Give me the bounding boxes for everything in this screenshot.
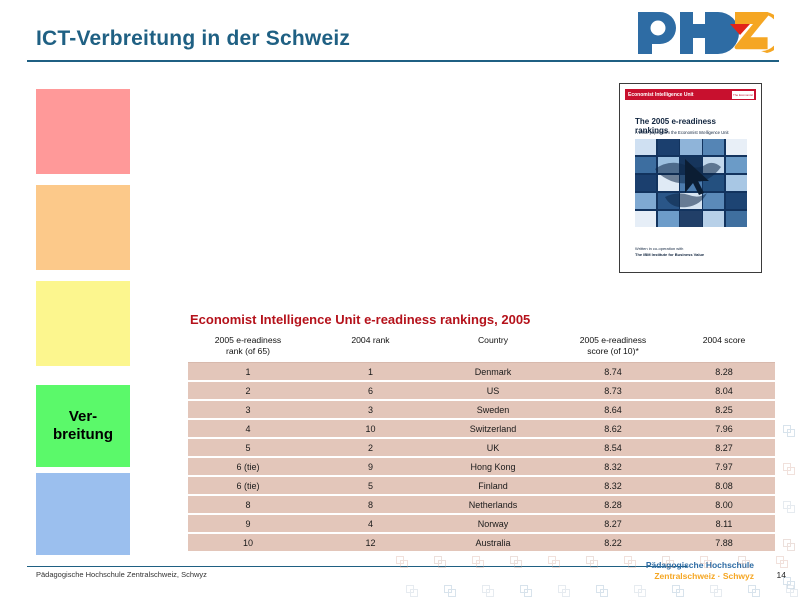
cell-country: Denmark <box>433 363 553 382</box>
phz-logo-svg <box>634 8 774 56</box>
cell-country: Sweden <box>433 400 553 419</box>
page-number: 14 <box>777 570 786 580</box>
table-row: 52UK8.548.27 <box>188 438 775 457</box>
sidebar-block-yellow[interactable] <box>36 281 130 366</box>
cell-rank-2004: 6 <box>308 381 433 400</box>
cell-rank-2005: 6 (tie) <box>188 457 308 476</box>
cell-rank-2004: 3 <box>308 400 433 419</box>
col-header-score-2005-l1: 2005 e-readiness <box>580 335 646 345</box>
cell-score-2004: 8.00 <box>673 495 775 514</box>
table-header-row: 2005 e-readiness rank (of 65) 2004 rank … <box>188 334 775 363</box>
decorative-squares-icon <box>748 585 761 598</box>
footer-institution: Pädagogische Hochschule Zentralschweiz, … <box>36 570 207 579</box>
table-row: 11Denmark8.748.28 <box>188 363 775 382</box>
cell-score-2005: 8.73 <box>553 381 673 400</box>
report-cover-thumbnail[interactable]: Economist Intelligence Unit The Economis… <box>619 83 762 273</box>
col-header-country: Country <box>433 334 553 363</box>
cell-rank-2005: 1 <box>188 363 308 382</box>
cell-rank-2005: 6 (tie) <box>188 476 308 495</box>
decorative-squares-icon <box>624 556 637 569</box>
cell-score-2004: 8.28 <box>673 363 775 382</box>
decorative-squares-icon <box>586 556 599 569</box>
decorative-squares-icon <box>548 556 561 569</box>
table-row: 6 (tie)5Finland8.328.08 <box>188 476 775 495</box>
cell-score-2005: 8.27 <box>553 514 673 533</box>
table-row: 6 (tie)9Hong Kong8.327.97 <box>188 457 775 476</box>
decorative-squares-icon <box>783 463 796 476</box>
report-cover-footer-line2: The IBM Institute for Business Value <box>635 252 753 258</box>
cell-country: Switzerland <box>433 419 553 438</box>
cell-score-2005: 8.32 <box>553 476 673 495</box>
decorative-squares-icon <box>783 425 796 438</box>
decorative-squares-icon <box>558 585 571 598</box>
cell-score-2005: 8.22 <box>553 533 673 551</box>
table-row: 1012Australia8.227.88 <box>188 533 775 551</box>
cell-rank-2005: 2 <box>188 381 308 400</box>
footer-brand-line-2: Zentralschweiz · Schwyz <box>654 571 754 581</box>
col-header-score-2005-l2: score (of 10)* <box>587 346 639 356</box>
report-cover-banner-mark: The Economist <box>732 91 754 99</box>
decorative-squares-icon <box>710 585 723 598</box>
table-row: 33Sweden8.648.25 <box>188 400 775 419</box>
cell-rank-2004: 10 <box>308 419 433 438</box>
decorative-squares-icon <box>396 556 409 569</box>
decorative-squares-icon <box>434 556 447 569</box>
cell-rank-2004: 2 <box>308 438 433 457</box>
table-row: 88Netherlands8.288.00 <box>188 495 775 514</box>
col-header-rank-2004: 2004 rank <box>308 334 433 363</box>
footer-brand-line-1: Pädagogische Hochschule <box>646 560 754 570</box>
cell-rank-2005: 10 <box>188 533 308 551</box>
cell-rank-2004: 9 <box>308 457 433 476</box>
cell-rank-2005: 5 <box>188 438 308 457</box>
presentation-slide: ICT-Verbreitung in der Schweiz Ver- brei… <box>0 0 800 600</box>
cell-score-2004: 8.25 <box>673 400 775 419</box>
cell-score-2004: 8.08 <box>673 476 775 495</box>
cell-score-2005: 8.32 <box>553 457 673 476</box>
col-header-score-2005: 2005 e-readiness score (of 10)* <box>553 334 673 363</box>
cell-country: Norway <box>433 514 553 533</box>
cell-rank-2004: 4 <box>308 514 433 533</box>
decorative-squares-icon <box>444 585 457 598</box>
e-readiness-rankings-table: 2005 e-readiness rank (of 65) 2004 rank … <box>188 334 775 551</box>
col-header-rank-2005-l1: 2005 e-readiness <box>215 335 281 345</box>
report-cover-image-grid <box>635 139 747 227</box>
cell-score-2004: 7.88 <box>673 533 775 551</box>
phz-logo <box>634 8 774 56</box>
sidebar-block-green-label: Ver- breitung <box>53 408 113 445</box>
decorative-squares-icon <box>672 585 685 598</box>
decorative-squares-icon <box>406 585 419 598</box>
col-header-score-2004: 2004 score <box>673 334 775 363</box>
sidebar-block-orange[interactable] <box>36 185 130 270</box>
table-body: 11Denmark8.748.2826US8.738.0433Sweden8.6… <box>188 363 775 552</box>
page-title: ICT-Verbreitung in der Schweiz <box>36 27 350 51</box>
cell-country: Netherlands <box>433 495 553 514</box>
footer-divider <box>27 566 687 567</box>
report-cover-banner: Economist Intelligence Unit The Economis… <box>625 89 756 100</box>
cell-country: Hong Kong <box>433 457 553 476</box>
cell-score-2005: 8.74 <box>553 363 673 382</box>
cell-score-2005: 8.62 <box>553 419 673 438</box>
decorative-squares-icon <box>520 585 533 598</box>
report-cover-subtitle: A white paper from the Economist Intelli… <box>635 130 751 135</box>
sidebar-block-green-verbreitung[interactable]: Ver- breitung <box>36 385 130 467</box>
report-cover-footer: Written in co-operation with The IBM Ins… <box>635 246 753 258</box>
cell-score-2004: 8.27 <box>673 438 775 457</box>
table-title: Economist Intelligence Unit e-readiness … <box>190 312 530 327</box>
cell-country: UK <box>433 438 553 457</box>
cell-rank-2004: 12 <box>308 533 433 551</box>
cell-country: Australia <box>433 533 553 551</box>
decorative-squares-icon <box>783 539 796 552</box>
table-row: 26US8.738.04 <box>188 381 775 400</box>
cell-rank-2005: 9 <box>188 514 308 533</box>
cell-rank-2004: 8 <box>308 495 433 514</box>
col-header-rank-2005: 2005 e-readiness rank (of 65) <box>188 334 308 363</box>
label-line-2: breitung <box>53 426 113 443</box>
cell-rank-2004: 1 <box>308 363 433 382</box>
cell-score-2005: 8.28 <box>553 495 673 514</box>
cell-score-2004: 8.11 <box>673 514 775 533</box>
cell-country: Finland <box>433 476 553 495</box>
report-cover-banner-text: Economist Intelligence Unit <box>625 92 694 98</box>
table-row: 94Norway8.278.11 <box>188 514 775 533</box>
sidebar-block-blue[interactable] <box>36 473 130 555</box>
decorative-squares-icon <box>786 585 799 598</box>
cell-score-2004: 8.04 <box>673 381 775 400</box>
col-header-rank-2005-l2: rank (of 65) <box>226 346 270 356</box>
cell-rank-2005: 3 <box>188 400 308 419</box>
decorative-squares-icon <box>634 585 647 598</box>
decorative-squares-icon <box>783 501 796 514</box>
cell-rank-2005: 4 <box>188 419 308 438</box>
table-row: 410Switzerland8.627.96 <box>188 419 775 438</box>
header-divider <box>27 60 779 62</box>
cell-rank-2004: 5 <box>308 476 433 495</box>
cell-score-2005: 8.64 <box>553 400 673 419</box>
decorative-squares-icon <box>596 585 609 598</box>
cell-score-2004: 7.97 <box>673 457 775 476</box>
table-header: 2005 e-readiness rank (of 65) 2004 rank … <box>188 334 775 363</box>
decorative-squares-icon <box>482 585 495 598</box>
label-line-1: Ver- <box>69 408 97 425</box>
decorative-squares-icon <box>776 556 789 569</box>
decorative-squares-icon <box>510 556 523 569</box>
decorative-squares-icon <box>472 556 485 569</box>
cell-score-2005: 8.54 <box>553 438 673 457</box>
cell-score-2004: 7.96 <box>673 419 775 438</box>
cell-rank-2005: 8 <box>188 495 308 514</box>
cell-country: US <box>433 381 553 400</box>
sidebar-block-red[interactable] <box>36 89 130 174</box>
